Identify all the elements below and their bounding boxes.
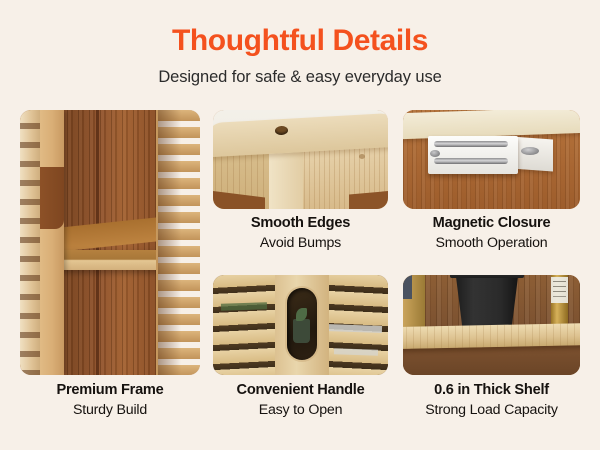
feature-image-magnetic-closure bbox=[403, 110, 580, 209]
interior-plant-pot bbox=[293, 319, 310, 343]
feature-title-premium-frame: Premium Frame bbox=[20, 382, 200, 399]
cabinet-front-edge-slats bbox=[20, 110, 40, 375]
door-slats-left bbox=[213, 275, 283, 375]
thick-shelf-edge-grain bbox=[403, 323, 580, 349]
feature-title-magnetic-closure: Magnetic Closure bbox=[396, 215, 587, 232]
shelf-item-left-dark bbox=[403, 275, 412, 299]
cabinet-screw-dot bbox=[359, 154, 365, 159]
cabinet-vertical-post bbox=[38, 110, 64, 375]
magnet-bar-bottom bbox=[434, 158, 508, 164]
header: Thoughtful Details Designed for safe & e… bbox=[0, 0, 600, 100]
feature-title-convenient-handle: Convenient Handle bbox=[206, 382, 395, 399]
shelf-lower-compartment bbox=[403, 345, 580, 375]
black-plant-pot-rim bbox=[450, 275, 524, 278]
feature-image-premium-frame bbox=[20, 110, 200, 375]
feature-image-smooth-edges bbox=[213, 110, 388, 209]
strike-plate-screw bbox=[521, 147, 539, 155]
feature-caption-premium-frame: Premium Frame Sturdy Build bbox=[20, 382, 200, 419]
magnet-housing-screw bbox=[430, 150, 440, 157]
feature-image-thick-shelf bbox=[403, 275, 580, 375]
feature-caption-magnetic-closure: Magnetic Closure Smooth Operation bbox=[396, 215, 587, 252]
feature-caption-convenient-handle: Convenient Handle Easy to Open bbox=[206, 382, 395, 419]
feature-caption-thick-shelf: 0.6 in Thick Shelf Strong Load Capacity bbox=[396, 382, 587, 419]
feature-image-convenient-handle bbox=[213, 275, 388, 375]
feature-subtitle-convenient-handle: Easy to Open bbox=[206, 402, 395, 419]
feature-title-thick-shelf: 0.6 in Thick Shelf bbox=[396, 382, 587, 399]
cabinet-shelf-edge bbox=[56, 250, 168, 270]
page-subtitle: Designed for safe & easy everyday use bbox=[0, 68, 600, 87]
black-plant-pot bbox=[453, 275, 521, 329]
feature-title-smooth-edges: Smooth Edges bbox=[206, 215, 395, 232]
magnet-bar-top bbox=[434, 141, 508, 147]
cabinet-slats-shadow bbox=[158, 110, 200, 375]
cabinet-post-notch bbox=[38, 167, 64, 229]
feature-caption-smooth-edges: Smooth Edges Avoid Bumps bbox=[206, 215, 395, 252]
amber-bottle-label bbox=[551, 277, 568, 303]
feature-subtitle-smooth-edges: Avoid Bumps bbox=[206, 235, 395, 252]
page-title: Thoughtful Details bbox=[0, 26, 600, 56]
feature-subtitle-magnetic-closure: Smooth Operation bbox=[396, 235, 587, 252]
feature-subtitle-premium-frame: Sturdy Build bbox=[20, 402, 200, 419]
feature-subtitle-thick-shelf: Strong Load Capacity bbox=[396, 402, 587, 419]
